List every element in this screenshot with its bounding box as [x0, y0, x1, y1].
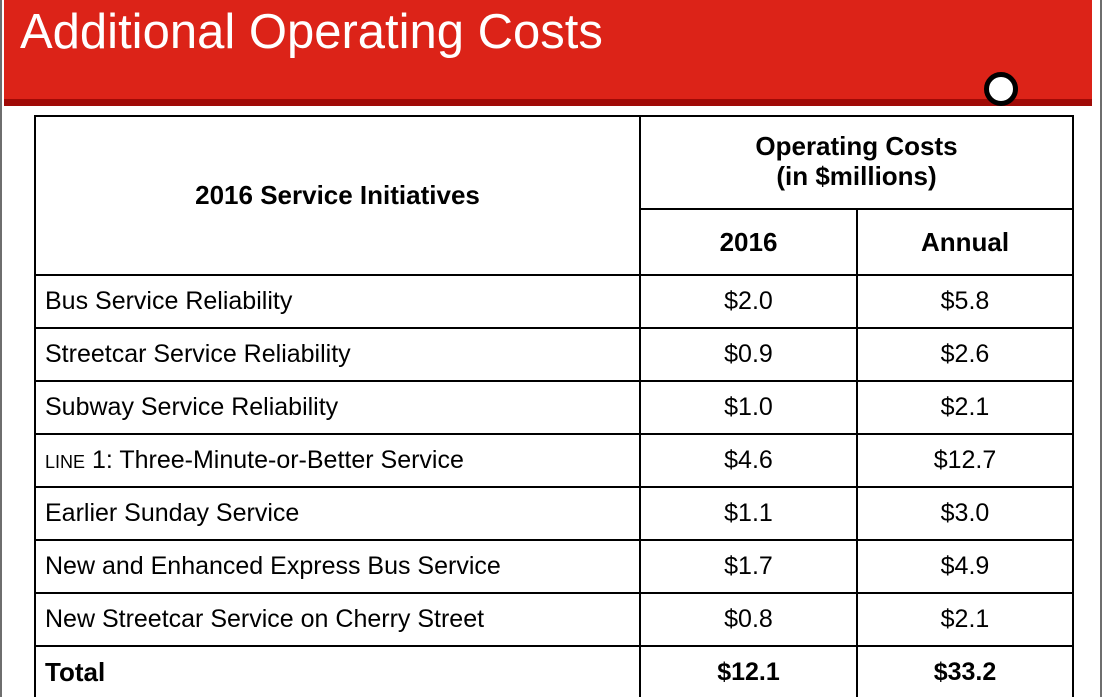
page-title: Additional Operating Costs	[20, 8, 603, 57]
table-row: Streetcar Service Reliability $0.9 $2.6	[35, 328, 1073, 381]
operating-costs-label-line2: (in $millions)	[641, 162, 1072, 192]
cell-cost-2016: $1.1	[640, 487, 857, 540]
cell-cost-2016: $2.0	[640, 275, 857, 328]
cell-cost-annual: $12.7	[857, 434, 1073, 487]
cell-initiative: New Streetcar Service on Cherry Street	[35, 593, 640, 646]
cell-initiative-text: 1: Three-Minute-or-Better Service	[85, 446, 464, 474]
circle-bullet-icon	[984, 72, 1018, 106]
column-header-operating-costs: Operating Costs (in $millions)	[640, 116, 1073, 209]
cell-initiative: Line 1: Three-Minute-or-Better Service	[35, 434, 640, 487]
table-row: Bus Service Reliability $2.0 $5.8	[35, 275, 1073, 328]
cell-initiative: Bus Service Reliability	[35, 275, 640, 328]
column-header-initiatives: 2016 Service Initiatives	[35, 116, 640, 275]
table-body: Bus Service Reliability $2.0 $5.8 Street…	[35, 275, 1073, 697]
operating-costs-label-line1: Operating Costs	[641, 132, 1072, 162]
column-header-2016: 2016	[640, 209, 857, 275]
cell-initiative: Subway Service Reliability	[35, 381, 640, 434]
operating-costs-table: 2016 Service Initiatives Operating Costs…	[34, 115, 1074, 697]
cell-cost-annual: $3.0	[857, 487, 1073, 540]
table-row: New and Enhanced Express Bus Service $1.…	[35, 540, 1073, 593]
table-row: New Streetcar Service on Cherry Street $…	[35, 593, 1073, 646]
cell-cost-2016: $1.7	[640, 540, 857, 593]
table-row: Earlier Sunday Service $1.1 $3.0	[35, 487, 1073, 540]
table-header: 2016 Service Initiatives Operating Costs…	[35, 116, 1073, 275]
cell-total-2016: $12.1	[640, 646, 857, 697]
title-banner-underline	[4, 99, 1092, 106]
cell-cost-annual: $2.6	[857, 328, 1073, 381]
cell-cost-2016: $1.0	[640, 381, 857, 434]
table-row-total: Total $12.1 $33.2	[35, 646, 1073, 697]
cell-cost-2016: $4.6	[640, 434, 857, 487]
cell-cost-annual: $2.1	[857, 593, 1073, 646]
cell-initiative-prefix: Line	[45, 446, 85, 474]
cell-cost-annual: $5.8	[857, 275, 1073, 328]
cell-initiative: New and Enhanced Express Bus Service	[35, 540, 640, 593]
cell-total-label: Total	[35, 646, 640, 697]
cell-total-annual: $33.2	[857, 646, 1073, 697]
cell-cost-annual: $4.9	[857, 540, 1073, 593]
table-header-row-1: 2016 Service Initiatives Operating Costs…	[35, 116, 1073, 209]
cell-initiative: Streetcar Service Reliability	[35, 328, 640, 381]
cell-cost-2016: $0.9	[640, 328, 857, 381]
column-header-annual: Annual	[857, 209, 1073, 275]
cell-initiative: Earlier Sunday Service	[35, 487, 640, 540]
slide: Additional Operating Costs 2016 Service …	[0, 0, 1102, 697]
cell-cost-annual: $2.1	[857, 381, 1073, 434]
table-row: Line 1: Three-Minute-or-Better Service $…	[35, 434, 1073, 487]
cell-cost-2016: $0.8	[640, 593, 857, 646]
table-row: Subway Service Reliability $1.0 $2.1	[35, 381, 1073, 434]
